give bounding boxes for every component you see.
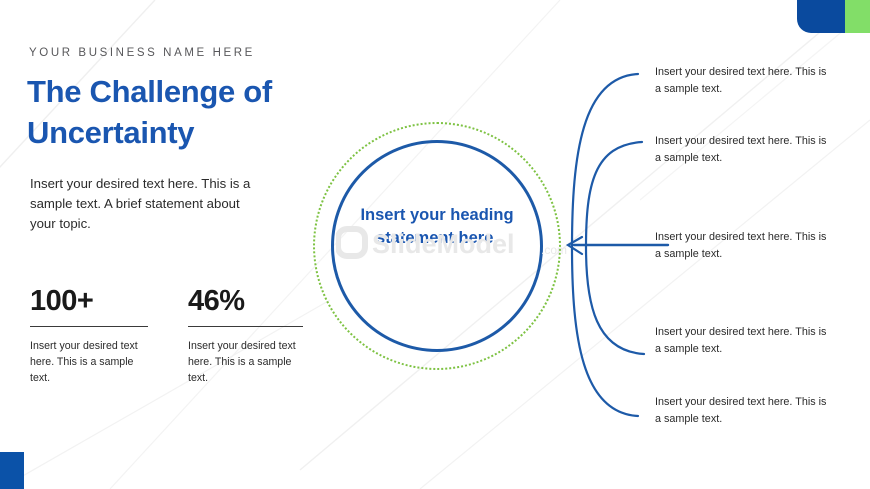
list-item: Insert your desired text here. This is a… <box>655 133 827 167</box>
corner-decoration-square <box>0 452 24 489</box>
brace-branch-1 <box>572 74 638 247</box>
brace-arrowhead <box>568 237 582 254</box>
page-title: The Challenge of Uncertainty <box>27 72 327 154</box>
brace-branch-2 <box>586 142 642 247</box>
list-item: Insert your desired text here. This is a… <box>655 229 827 263</box>
brace-branch-4 <box>586 247 644 354</box>
stat-divider <box>188 326 303 327</box>
list-item: Insert your desired text here. This is a… <box>655 324 827 358</box>
corner-decoration-blue <box>797 0 845 33</box>
center-circle-group: Insert your heading statement here. <box>313 122 561 370</box>
eyebrow-label: YOUR BUSINESS NAME HERE <box>29 47 255 59</box>
stat-description: Insert your desired text here. This is a… <box>30 338 138 386</box>
stat-block: 100+ Insert your desired text here. This… <box>30 286 150 386</box>
center-heading: Insert your heading statement here. <box>351 204 523 251</box>
corner-decoration-green <box>845 0 870 33</box>
stat-block: 46% Insert your desired text here. This … <box>188 286 308 386</box>
stat-value: 100+ <box>30 286 150 318</box>
slide-canvas: YOUR BUSINESS NAME HERE The Challenge of… <box>0 0 870 489</box>
brace-connector <box>560 55 670 435</box>
stat-value: 46% <box>188 286 308 318</box>
brace-branch-5 <box>572 247 638 416</box>
stat-divider <box>30 326 148 327</box>
stat-description: Insert your desired text here. This is a… <box>188 338 296 386</box>
list-item: Insert your desired text here. This is a… <box>655 64 827 98</box>
intro-paragraph: Insert your desired text here. This is a… <box>30 174 266 235</box>
list-item: Insert your desired text here. This is a… <box>655 394 827 428</box>
